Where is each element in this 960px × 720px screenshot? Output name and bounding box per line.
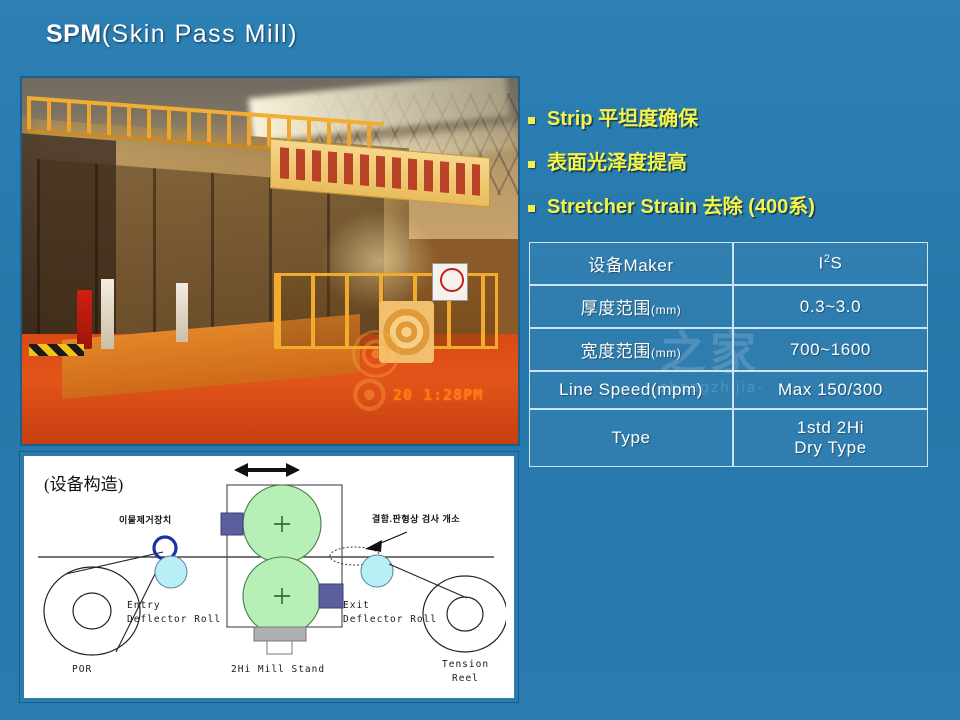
spec-key-width-text: 宽度范围 <box>581 342 651 361</box>
page-title: SPM(Skin Pass Mill) <box>46 20 298 49</box>
spec-value-type: 1std 2Hi Dry Type <box>733 409 928 467</box>
spec-value-thickness: 0.3~3.0 <box>733 285 928 328</box>
photo-bollard-2 <box>176 283 188 342</box>
equipment-layout-diagram: (设备构造) <box>20 452 518 702</box>
photo-banner-text <box>280 146 481 195</box>
tension-reel-label-line2: Reel <box>452 673 479 684</box>
spec-key-thickness-text: 厚度范围 <box>581 299 651 318</box>
spec-key-thickness: 厚度范围(mm) <box>529 285 733 328</box>
page-title-rest: (Skin Pass Mill) <box>102 20 298 48</box>
por-label: POR <box>72 664 92 675</box>
spec-value-type-line1: 1std 2Hi <box>738 418 923 438</box>
entry-roll-label-line2: Deflector Roll <box>127 614 221 625</box>
diagram-svg: 이물제거장치 결함.판형상 검사 개소 Entry Deflector Roll… <box>24 456 506 690</box>
spec-value-maker: I2S <box>733 242 928 285</box>
spec-value-line-speed: Max 150/300 <box>733 371 928 409</box>
strip-exit-to-reel <box>389 564 467 598</box>
photo-steel-coil <box>379 301 434 363</box>
inspection-label: 결함.판형상 검사 개소 <box>372 513 460 524</box>
bullet-list: Strip 平坦度确保 表面光泽度提高 Stretcher Strain 去除 … <box>528 108 948 240</box>
bullet-item-1: Strip 平坦度确保 <box>528 108 948 131</box>
table-row: 设备Maker I2S <box>529 242 928 285</box>
exit-roll-label-line1: Exit <box>343 600 370 611</box>
mill-stand-label: 2Hi Mill Stand <box>231 664 325 675</box>
photo-fire-extinguisher <box>77 290 93 349</box>
stand-motion-arrow-right-head-icon <box>286 463 300 477</box>
bullet-text-3: Stretcher Strain 去除 (400系) <box>547 196 815 219</box>
table-row: 厚度范围(mm) 0.3~3.0 <box>529 285 928 328</box>
spec-key-type: Type <box>529 409 733 467</box>
spec-key-width-unit: (mm) <box>651 346 681 360</box>
spec-key-maker: 设备Maker <box>529 242 733 285</box>
upper-roll-bearing <box>221 513 243 535</box>
cleaner-label: 이물제거장치 <box>119 514 172 525</box>
photo-bollard <box>101 279 114 349</box>
exit-deflector-roll <box>361 555 393 587</box>
lower-roll-bearing <box>319 584 343 608</box>
photo-timestamp: 20 1:28PM <box>393 386 483 404</box>
spec-table: 设备Maker I2S 厚度范围(mm) 0.3~3.0 宽度范围(mm) 70… <box>529 242 928 467</box>
spec-key-width: 宽度范围(mm) <box>529 328 733 371</box>
bullet-text-2: 表面光泽度提高 <box>547 152 687 175</box>
stand-motion-arrow-left-head-icon <box>234 463 248 477</box>
entry-roll-label-line1: Entry <box>127 600 161 611</box>
square-bullet-icon <box>528 161 535 168</box>
bullet-item-3: Stretcher Strain 去除 (400系) <box>528 196 948 219</box>
table-row: Type 1std 2Hi Dry Type <box>529 409 928 467</box>
photo-hazard-stripe <box>29 344 84 356</box>
square-bullet-icon <box>528 117 535 124</box>
table-row: 宽度范围(mm) 700~1600 <box>529 328 928 371</box>
por-inner-circle <box>73 593 111 629</box>
square-bullet-icon <box>528 205 535 212</box>
spec-value-width: 700~1600 <box>733 328 928 371</box>
strip-por-to-entry-top <box>66 552 163 574</box>
photo-warning-sign <box>432 263 469 302</box>
inspection-arrow-head-icon <box>365 540 382 552</box>
spec-key-thickness-unit: (mm) <box>651 303 681 317</box>
spec-key-line-speed: Line Speed(mpm) <box>529 371 733 409</box>
spec-value-type-line2: Dry Type <box>738 438 923 458</box>
tension-reel-label-line1: Tension <box>442 659 489 670</box>
por-outer-circle <box>44 567 140 655</box>
mill-stand-base <box>254 627 306 641</box>
exit-roll-label-line2: Deflector Roll <box>343 614 437 625</box>
bullet-item-2: 表面光泽度提高 <box>528 152 948 175</box>
mill-stand-pedestal <box>267 641 292 654</box>
table-row: Line Speed(mpm) Max 150/300 <box>529 371 928 409</box>
tension-reel-inner-circle <box>447 597 483 631</box>
entry-deflector-roll <box>155 556 187 588</box>
bullet-text-1: Strip 平坦度确保 <box>547 108 698 131</box>
page-title-bold: SPM <box>46 20 102 48</box>
spm-line-photograph: 20 1:28PM <box>20 76 520 446</box>
